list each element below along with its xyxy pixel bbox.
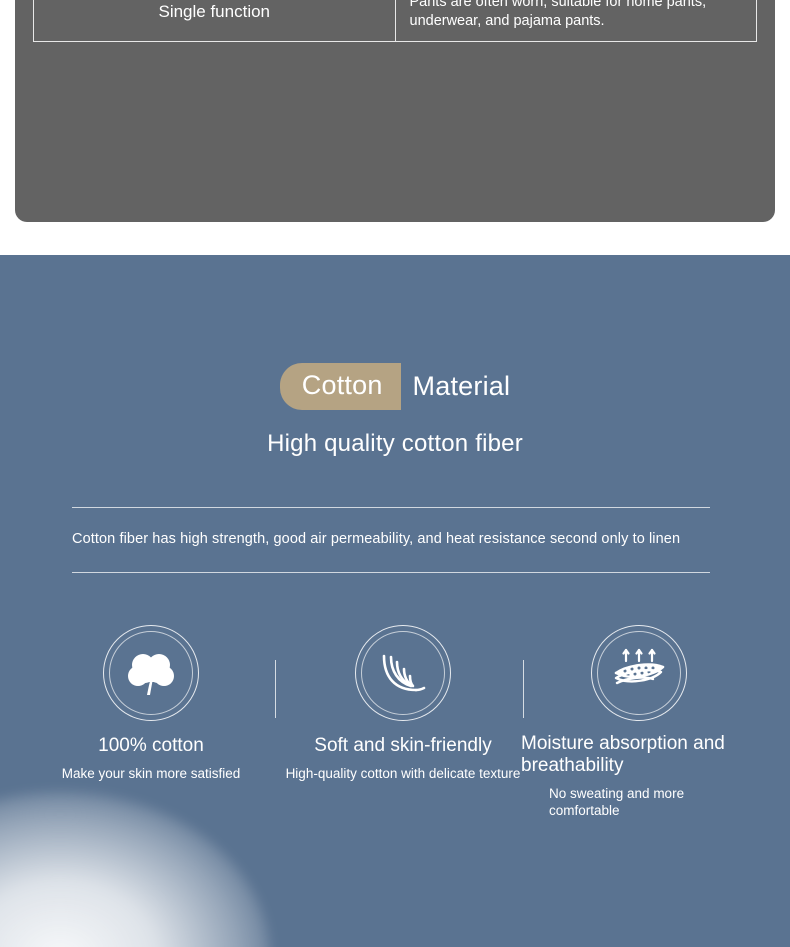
divider-bottom: [72, 572, 710, 573]
feature-list: 100% cotton Make your skin more satisfie…: [0, 625, 790, 845]
feature-item-cotton: 100% cotton Make your skin more satisfie…: [33, 625, 269, 783]
feature-item-soft: Soft and skin-friendly High-quality cott…: [285, 625, 521, 783]
product-detail-page: Slim fit Loose fit Good moisture absorpt…: [0, 0, 790, 947]
cotton-boll-glyph: [123, 645, 179, 701]
cotton-boll-icon: [103, 625, 199, 721]
cotton-badge: Cotton: [280, 363, 401, 410]
feature-title: Soft and skin-friendly: [285, 735, 521, 757]
table-cell-usage-description: Pants are often worn, suitable for home …: [395, 0, 757, 41]
feature-divider-1: [275, 660, 276, 718]
feature-description: No sweating and more comfortable: [549, 786, 739, 820]
table-row: Single function Pants are often worn, su…: [34, 0, 757, 41]
feature-title: 100% cotton: [33, 735, 269, 757]
section-title-rest: Material: [401, 373, 511, 400]
comparison-table: Slim fit Loose fit Good moisture absorpt…: [33, 0, 757, 42]
comparison-card: Slim fit Loose fit Good moisture absorpt…: [15, 0, 775, 222]
divider-top: [72, 507, 710, 508]
breathable-fabric-glyph: [611, 645, 667, 701]
feature-description: Make your skin more satisfied: [33, 766, 269, 783]
section-subtitle: High quality cotton fiber: [0, 430, 790, 458]
feature-description: High-quality cotton with delicate textur…: [285, 766, 521, 783]
cotton-material-section: Cotton Material High quality cotton fibe…: [0, 255, 790, 947]
feature-item-breathability: Moisture absorption and breathability No…: [521, 625, 757, 819]
section-blurb: Cotton fiber has high strength, good air…: [72, 531, 722, 547]
feather-icon: [355, 625, 451, 721]
feature-title: Moisture absorption and breathability: [521, 733, 731, 777]
feather-glyph: [375, 645, 431, 701]
section-title: Cotton Material: [0, 363, 790, 410]
breathable-fabric-icon: [591, 625, 687, 721]
table-cell-single-function: Single function: [34, 0, 396, 41]
